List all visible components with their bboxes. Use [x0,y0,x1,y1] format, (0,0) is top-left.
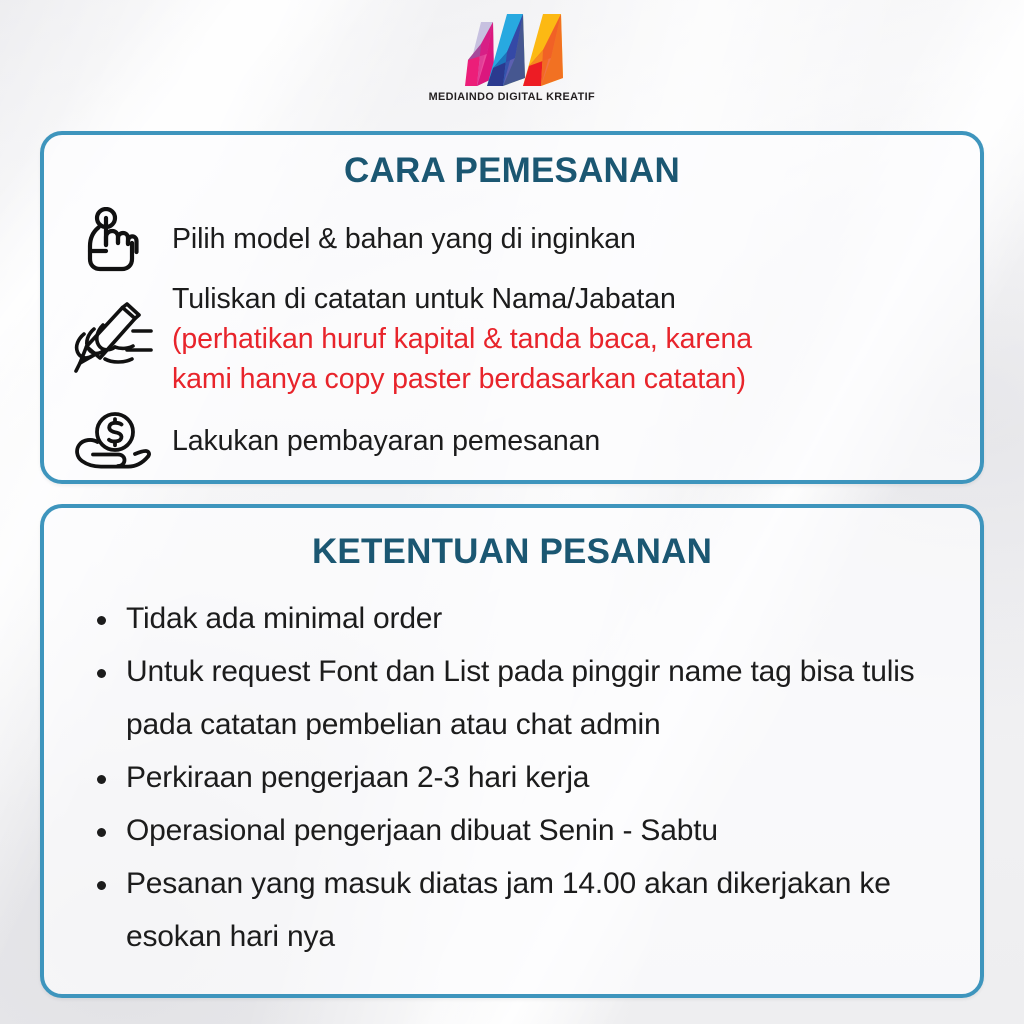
order-step-3: Lakukan pembayaran pemesanan [70,405,962,471]
brand-name: MEDIAINDO DIGITAL KREATIF [429,91,595,103]
brand-logo: MEDIAINDO DIGITAL KREATIF [0,8,1024,103]
order-step-1-text: Pilih model & bahan yang di inginkan [172,203,962,259]
order-step-2-text: Tuliskan di catatan untuk Nama/Jabatan (… [172,279,962,399]
terms-card: KETENTUAN PESANAN Tidak ada minimal orde… [40,504,984,998]
order-card-title: CARA PEMESANAN [44,151,980,191]
order-step-2: Tuliskan di catatan untuk Nama/Jabatan (… [70,279,962,399]
order-step-2-line-2: (perhatikan huruf kapital & tanda baca, … [172,319,962,359]
infographic-page: MEDIAINDO DIGITAL KREATIF CARA PEMESANAN [0,0,1024,1024]
order-step-2-line-3: kami hanya copy paster berdasarkan catat… [172,359,962,399]
terms-card-title: KETENTUAN PESANAN [44,532,980,572]
order-step-2-line-1: Tuliskan di catatan untuk Nama/Jabatan [172,279,962,319]
order-step-3-line-1: Lakukan pembayaran pemesanan [172,421,962,461]
pointer-click-hand-icon [70,203,156,273]
list-item: Tidak ada minimal order [84,592,940,645]
list-item: Untuk request Font dan List pada pinggir… [84,645,940,751]
mediaindo-m-logo-icon [437,8,587,90]
hand-holding-dollar-coin-icon [70,405,156,471]
order-step-1: Pilih model & bahan yang di inginkan [70,203,962,273]
order-step-1-line-1: Pilih model & bahan yang di inginkan [172,219,962,259]
order-steps-list: Pilih model & bahan yang di inginkan [44,203,980,471]
list-item: Pesanan yang masuk diatas jam 14.00 akan… [84,857,940,963]
order-steps-card: CARA PEMESANAN [40,131,984,484]
list-item: Perkiraan pengerjaan 2-3 hari kerja [84,751,940,804]
terms-list: Tidak ada minimal order Untuk request Fo… [44,592,980,963]
order-step-3-text: Lakukan pembayaran pemesanan [172,405,962,461]
hand-writing-pen-icon [70,279,156,377]
list-item: Operasional pengerjaan dibuat Senin - Sa… [84,804,940,857]
